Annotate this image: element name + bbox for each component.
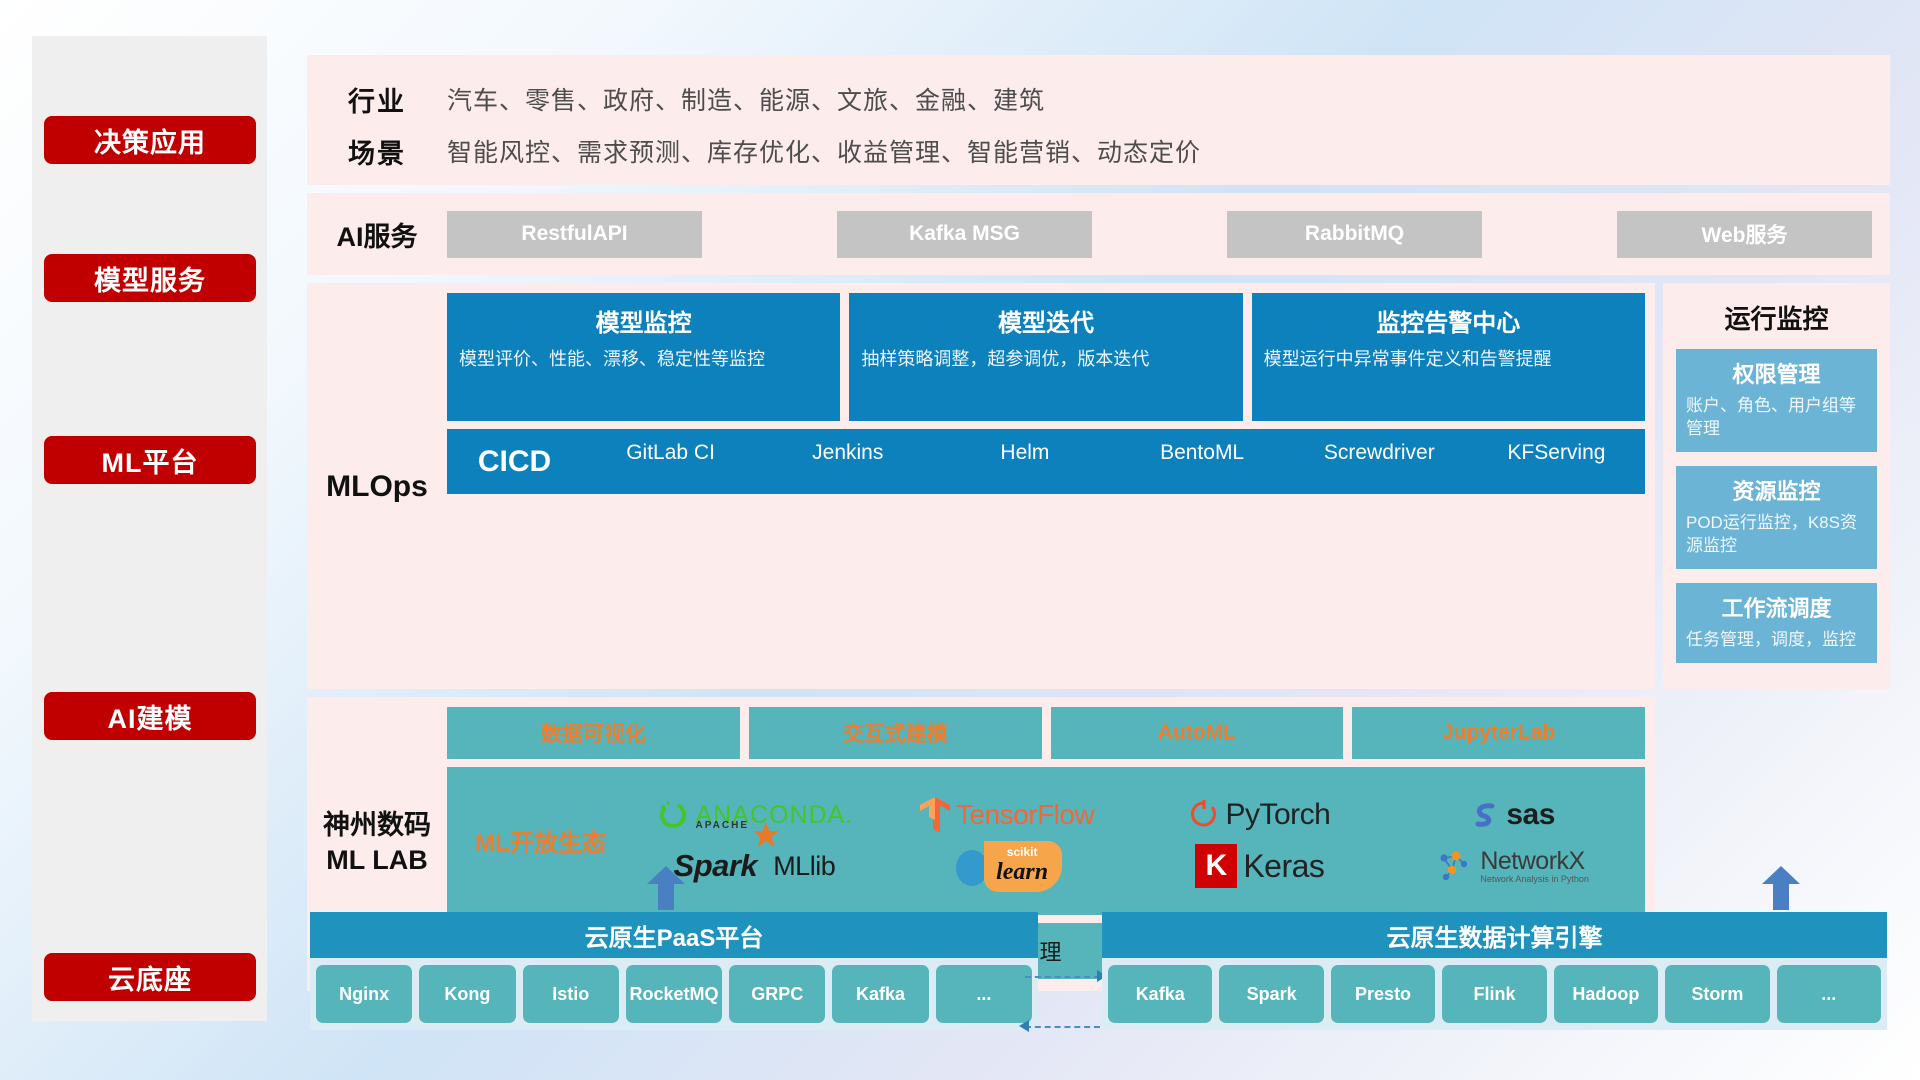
- scikit-word-small: scikit: [996, 845, 1048, 859]
- mlops-card-alert-center[interactable]: 监控告警中心 模型运行中异常事件定义和告警提醒: [1252, 293, 1645, 421]
- networkx-wordmark: NetworkX: [1480, 849, 1589, 874]
- card-desc: 账户、角色、用户组等管理: [1686, 395, 1867, 441]
- data-engine-group: 云原生数据计算引擎 Kafka Spark Presto Flink Hadoo…: [1102, 912, 1887, 1030]
- industry-row: 行业 汽车、零售、政府、制造、能源、文旅、金融、建筑: [307, 73, 1890, 125]
- paas-chip-kafka[interactable]: Kafka: [832, 965, 928, 1023]
- card-title: 模型监控: [459, 303, 828, 338]
- scenario-row: 场景 智能风控、需求预测、库存优化、收益管理、智能营销、动态定价: [307, 125, 1890, 177]
- keras-logo[interactable]: K Keras: [1195, 844, 1324, 888]
- networkx-logo[interactable]: NetworkX Network Analysis in Python: [1436, 848, 1589, 884]
- monitor-card-permission[interactable]: 权限管理 账户、角色、用户组等管理: [1676, 349, 1877, 452]
- ml-lab-label-line1: 神州数码: [323, 808, 431, 843]
- card-title: 监控告警中心: [1264, 303, 1633, 338]
- paas-chip-istio[interactable]: Istio: [523, 965, 619, 1023]
- engine-chip-hadoop[interactable]: Hadoop: [1554, 965, 1658, 1023]
- engine-chip-more[interactable]: ...: [1777, 965, 1881, 1023]
- cicd-item-gitlab-ci[interactable]: GitLab CI: [582, 440, 759, 483]
- engine-chip-storm[interactable]: Storm: [1665, 965, 1769, 1023]
- paas-chip-grpc[interactable]: GRPC: [729, 965, 825, 1023]
- paas-chip-rocketmq[interactable]: RocketMQ: [626, 965, 722, 1023]
- tool-chip-data-visualization[interactable]: 数据可视化: [447, 707, 740, 759]
- sas-logo[interactable]: sas: [1470, 798, 1555, 832]
- tool-chip-interactive-modeling[interactable]: 交互式建模: [749, 707, 1042, 759]
- cicd-item-screwdriver[interactable]: Screwdriver: [1291, 440, 1468, 483]
- card-desc: POD运行监控，K8S资源监控: [1686, 512, 1867, 558]
- paas-chip-more[interactable]: ...: [936, 965, 1032, 1023]
- pytorch-mark-icon: [1189, 799, 1219, 831]
- card-desc: 模型运行中异常事件定义和告警提醒: [1264, 347, 1633, 371]
- card-title: 工作流调度: [1686, 591, 1867, 623]
- networkx-graph-icon: [1436, 848, 1474, 884]
- ml-open-ecosystem-label: ML开放生态: [453, 823, 628, 858]
- left-rail: 决策应用 模型服务 ML平台 AI建模 云底座: [32, 36, 267, 1021]
- paas-chip-nginx[interactable]: Nginx: [316, 965, 412, 1023]
- dashed-arrow-right: [1025, 976, 1100, 978]
- apache-wordmark: APACHE: [696, 820, 749, 831]
- engine-chip-spark[interactable]: Spark: [1219, 965, 1323, 1023]
- engine-chip-presto[interactable]: Presto: [1331, 965, 1435, 1023]
- learn-wordmark: learn: [996, 859, 1048, 886]
- tensorflow-wordmark: TensorFlow: [956, 799, 1094, 831]
- pytorch-wordmark: PyTorch: [1225, 798, 1330, 832]
- ai-service-band: AI服务 RestfulAPI Kafka MSG RabbitMQ Web服务: [307, 193, 1890, 275]
- card-title: 模型迭代: [861, 303, 1230, 338]
- ai-service-chip-kafka-msg[interactable]: Kafka MSG: [837, 211, 1092, 258]
- ai-service-chip-web-service[interactable]: Web服务: [1617, 211, 1872, 258]
- spark-wordmark: Spark: [674, 848, 758, 884]
- mlops-card-model-monitoring[interactable]: 模型监控 模型评价、性能、漂移、稳定性等监控: [447, 293, 840, 421]
- rail-pill-model-service[interactable]: 模型服务: [44, 254, 256, 302]
- runtime-monitor-section: 运行监控 权限管理 账户、角色、用户组等管理 资源监控 POD运行监控，K8S资…: [1663, 283, 1890, 689]
- ml-tool-chip-list: 数据可视化 交互式建模 AutoML JupyterLab: [447, 707, 1645, 759]
- scenario-label: 场景: [307, 132, 447, 171]
- paas-platform-title: 云原生PaaS平台: [310, 912, 1038, 958]
- keras-wordmark: Keras: [1243, 848, 1324, 885]
- data-engine-title: 云原生数据计算引擎: [1102, 912, 1887, 958]
- ml-lab-label-line2: ML LAB: [323, 843, 431, 878]
- sas-mark-icon: [1470, 800, 1500, 830]
- card-desc: 抽样策略调整，超参调优，版本迭代: [861, 347, 1230, 371]
- monitor-card-resource[interactable]: 资源监控 POD运行监控，K8S资源监控: [1676, 466, 1877, 569]
- cloud-foundation-section: 云原生PaaS平台 Nginx Kong Istio RocketMQ GRPC…: [307, 890, 1890, 1040]
- networkx-subtitle: Network Analysis in Python: [1480, 874, 1589, 884]
- ai-service-chip-restfulapi[interactable]: RestfulAPI: [447, 211, 702, 258]
- rail-pill-cloud-base[interactable]: 云底座: [44, 953, 256, 1001]
- sas-wordmark: sas: [1506, 798, 1555, 832]
- mlops-card-model-iteration[interactable]: 模型迭代 抽样策略调整，超参调优，版本迭代: [849, 293, 1242, 421]
- ecosystem-logo-grid: ANACONDA. TensorFlow: [628, 790, 1639, 892]
- mlops-card-list: 模型监控 模型评价、性能、漂移、稳定性等监控 模型迭代 抽样策略调整，超参调优，…: [447, 293, 1645, 421]
- paas-chip-kong[interactable]: Kong: [419, 965, 515, 1023]
- tool-chip-jupyterlab[interactable]: JupyterLab: [1352, 707, 1645, 759]
- decision-application-band: 行业 汽车、零售、政府、制造、能源、文旅、金融、建筑 场景 智能风控、需求预测、…: [307, 55, 1890, 185]
- arrow-up-data-engine-icon: [1762, 866, 1800, 910]
- ai-service-chip-rabbitmq[interactable]: RabbitMQ: [1227, 211, 1482, 258]
- cicd-row: CICD GitLab CI Jenkins Helm BentoML Scre…: [447, 429, 1645, 494]
- tool-chip-automl[interactable]: AutoML: [1051, 707, 1344, 759]
- dashed-arrow-left-head-icon: [1019, 1020, 1029, 1032]
- mlops-label: MLOps: [307, 293, 447, 681]
- runtime-monitor-title: 运行监控: [1676, 299, 1877, 336]
- industry-value: 汽车、零售、政府、制造、能源、文旅、金融、建筑: [447, 81, 1045, 117]
- main-column: 行业 汽车、零售、政府、制造、能源、文旅、金融、建筑 场景 智能风控、需求预测、…: [307, 55, 1890, 991]
- scikit-learn-logo[interactable]: scikit learn: [952, 841, 1062, 892]
- ai-service-chip-list: RestfulAPI Kafka MSG RabbitMQ Web服务: [447, 211, 1890, 258]
- rail-pill-decision-app[interactable]: 决策应用: [44, 116, 256, 164]
- tensorflow-logo[interactable]: TensorFlow: [920, 797, 1094, 833]
- cicd-item-helm[interactable]: Helm: [936, 440, 1113, 483]
- card-title: 权限管理: [1686, 357, 1867, 389]
- mlops-section: MLOps 模型监控 模型评价、性能、漂移、稳定性等监控 模型迭代 抽样策略调整…: [307, 283, 1655, 689]
- cicd-item-kfserving[interactable]: KFServing: [1468, 440, 1645, 483]
- ai-service-label: AI服务: [307, 215, 447, 254]
- tensorflow-mark-icon: [920, 797, 950, 833]
- arrow-up-paas-icon: [647, 866, 685, 910]
- scenario-value: 智能风控、需求预测、库存优化、收益管理、智能营销、动态定价: [447, 133, 1201, 169]
- spark-star-icon: [752, 822, 780, 848]
- ml-platform-band: MLOps 模型监控 模型评价、性能、漂移、稳定性等监控 模型迭代 抽样策略调整…: [307, 283, 1890, 689]
- anaconda-mark-icon: [656, 798, 690, 832]
- mllib-wordmark: MLlib: [773, 851, 835, 882]
- cicd-title: CICD: [447, 445, 582, 479]
- keras-mark-icon: K: [1195, 844, 1237, 888]
- rail-pill-ml-platform[interactable]: ML平台: [44, 436, 256, 484]
- data-engine-chip-list: Kafka Spark Presto Flink Hadoop Storm ..…: [1102, 958, 1887, 1030]
- engine-chip-kafka[interactable]: Kafka: [1108, 965, 1212, 1023]
- spark-mllib-logo[interactable]: APACHE Spark MLlib: [674, 848, 836, 884]
- monitor-card-workflow[interactable]: 工作流调度 任务管理，调度，监控: [1676, 583, 1877, 663]
- paas-platform-group: 云原生PaaS平台 Nginx Kong Istio RocketMQ GRPC…: [310, 912, 1038, 1030]
- rail-pill-ai-modeling[interactable]: AI建模: [44, 692, 256, 740]
- cicd-item-jenkins[interactable]: Jenkins: [759, 440, 936, 483]
- card-title: 资源监控: [1686, 474, 1867, 506]
- pytorch-logo[interactable]: PyTorch: [1189, 798, 1330, 832]
- industry-label: 行业: [307, 80, 447, 119]
- cicd-item-bentoml[interactable]: BentoML: [1114, 440, 1291, 483]
- paas-chip-list: Nginx Kong Istio RocketMQ GRPC Kafka ...: [310, 958, 1038, 1030]
- engine-chip-flink[interactable]: Flink: [1442, 965, 1546, 1023]
- card-desc: 任务管理，调度，监控: [1686, 629, 1867, 652]
- dashed-arrow-left: [1025, 1026, 1100, 1028]
- card-desc: 模型评价、性能、漂移、稳定性等监控: [459, 347, 828, 371]
